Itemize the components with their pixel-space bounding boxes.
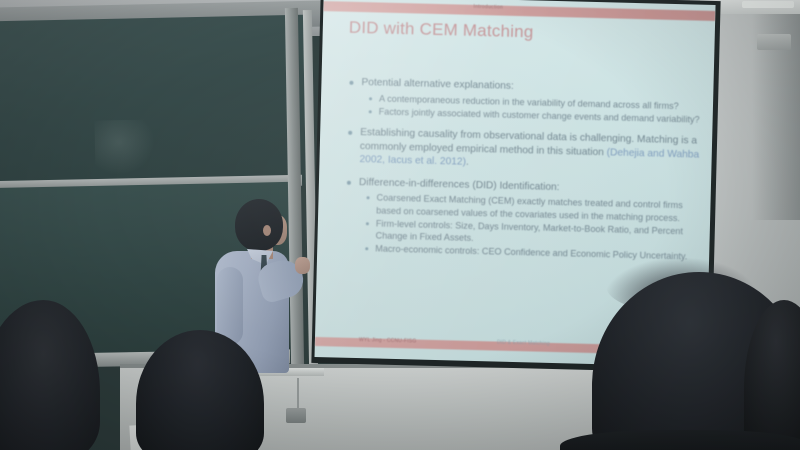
ceiling-light	[742, 1, 794, 8]
bullet-dot-icon	[369, 110, 372, 113]
bullet-dot-icon	[369, 97, 372, 100]
cable-junction-box	[286, 408, 306, 423]
bullet-dot-icon	[348, 131, 352, 135]
presenter-ear	[263, 225, 271, 236]
slide-block-3: Difference-in-differences (DID) Identifi…	[345, 176, 699, 263]
ceiling-vent	[757, 34, 791, 50]
bullet-text-post: .	[466, 157, 469, 168]
bullet-dot-icon	[366, 222, 369, 225]
slide-title: DID with CEM Matching	[349, 18, 534, 43]
slide-block-1: Potential alternative explanations: A co…	[349, 76, 702, 126]
bullet-text: Establishing causality from observationa…	[359, 126, 700, 175]
bullet-level1: Establishing causality from observationa…	[347, 126, 700, 176]
right-wall-shadow	[752, 0, 800, 220]
bullet-dot-icon	[365, 247, 368, 250]
bullet-dot-icon	[367, 197, 370, 200]
bullet-dot-icon	[349, 81, 353, 85]
slide-section-label: Introduction	[473, 4, 503, 11]
audience-shoulder	[560, 430, 800, 450]
classroom-photo: Introduction DID with CEM Matching Poten…	[0, 0, 800, 450]
hanging-cable	[297, 378, 299, 410]
bullet-text: Potential alternative explanations:	[361, 76, 514, 93]
slide-block-2: Establishing causality from observationa…	[347, 126, 700, 176]
slide-body: Potential alternative explanations: A co…	[345, 76, 702, 272]
presenter-head	[235, 199, 283, 251]
chalkboard-upper-panel	[0, 15, 312, 192]
bullet-dot-icon	[347, 181, 351, 185]
chalk-smudge	[94, 119, 155, 175]
presenter-hand	[295, 257, 310, 274]
